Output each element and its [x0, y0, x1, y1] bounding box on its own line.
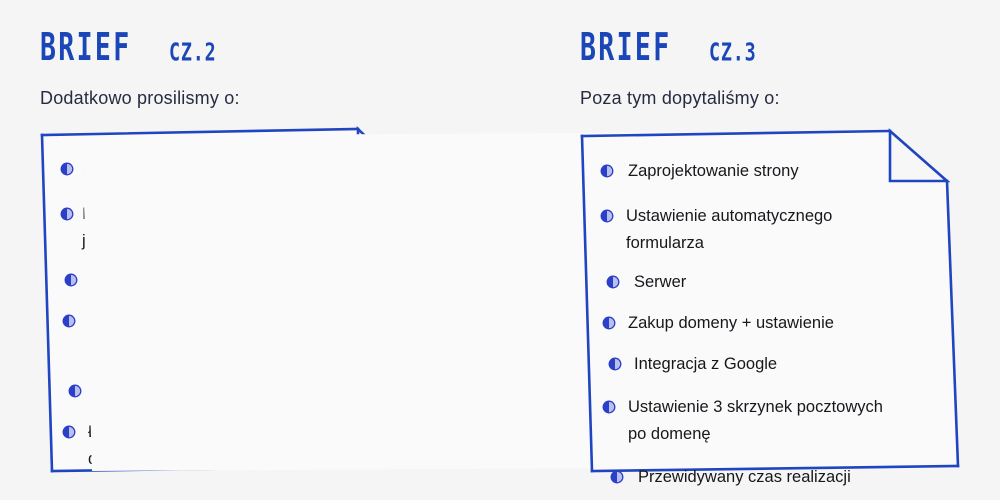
list-item-text: Możliwość optymalizacji SEO	[82, 156, 297, 183]
brief-panel-right: BRIEF CZ.3 Poza tym dopytaliśmy o: Zapro…	[500, 0, 1000, 500]
half-filled-circle-icon	[610, 470, 624, 484]
brief-panel-left: BRIEF CZ.2 Dodatkowo prosilismy o: Możli…	[0, 0, 500, 500]
list-item-text: Serwer	[634, 269, 686, 296]
note-card-right-top-edge	[582, 131, 890, 136]
list-item-text: Integrację z narzędziami Google jak Sear…	[82, 201, 319, 255]
subtitle-right: Poza tym dopytaliśmy o:	[580, 88, 780, 109]
half-filled-circle-icon	[62, 314, 76, 328]
heading-left-brief: BRIEF	[40, 25, 132, 70]
half-filled-circle-icon	[600, 209, 614, 223]
list-item-text: Zakup domeny + ustawienie	[628, 310, 834, 337]
list-item: Zaprojektowanie strony	[600, 158, 945, 185]
slide-canvas: BRIEF CZ.2 Dodatkowo prosilismy o: Możli…	[0, 0, 1000, 500]
list-item-text: Integracja z Google	[634, 351, 777, 378]
half-filled-circle-icon	[68, 384, 82, 398]
list-item: Łatwy mechanizm dodawania zdjęć do portf…	[62, 419, 400, 473]
list-item: Integracja z Google	[608, 351, 945, 378]
heading-left: BRIEF CZ.2	[40, 30, 229, 70]
heading-left-part: CZ.2	[169, 38, 217, 67]
note-card-right-left-edge	[582, 136, 592, 471]
brief-list-right: Zaprojektowanie strony Ustawienie automa…	[600, 158, 945, 491]
list-item: Ustawienie automatycznego formularza	[600, 203, 945, 257]
list-item: Integrację z narzędziami Google jak Sear…	[60, 201, 400, 255]
half-filled-circle-icon	[600, 164, 614, 178]
list-item-text: Zaprojektowanie strony	[628, 158, 799, 185]
note-card-left-right-edge	[412, 181, 419, 466]
list-item: Przewidywany czas realizacji	[610, 464, 945, 491]
half-filled-circle-icon	[606, 275, 620, 289]
half-filled-circle-icon	[60, 162, 74, 176]
list-item-text: Przewidywany czas realizacji	[638, 464, 851, 491]
half-filled-circle-icon	[64, 273, 78, 287]
list-item: Ustawienie 3 skrzynek pocztowych po dome…	[602, 394, 945, 448]
half-filled-circle-icon	[60, 207, 74, 221]
list-item-text: Łatwy mechanizm dodawania zdjęć do portf…	[88, 419, 348, 473]
half-filled-circle-icon	[602, 316, 616, 330]
note-card-left-top-edge	[42, 129, 358, 135]
heading-right: BRIEF CZ.3	[580, 30, 769, 70]
half-filled-circle-icon	[62, 425, 76, 439]
list-item: Możliwość optymalizacji SEO	[60, 156, 400, 183]
list-item: Skrzynkę pod własną domeną	[64, 267, 400, 294]
list-item-text: Blog	[98, 378, 131, 405]
list-item: Serwer	[606, 269, 945, 296]
heading-right-part: CZ.3	[709, 38, 757, 67]
list-item: Możliwość sprzedaży upominków (do 20 poz…	[62, 308, 400, 362]
brief-list-left: Możliwość optymalizacji SEO Integrację z…	[60, 156, 400, 473]
note-card-left-left-edge	[42, 135, 52, 471]
list-item-text: Ustawienie automatycznego formularza	[626, 203, 832, 257]
note-card-right-right-edge	[947, 181, 958, 466]
list-item-text: Ustawienie 3 skrzynek pocztowych po dome…	[628, 394, 883, 448]
list-item-text: Możliwość sprzedaży upominków (do 20 poz…	[88, 308, 332, 362]
half-filled-circle-icon	[608, 357, 622, 371]
subtitle-left: Dodatkowo prosilismy o:	[40, 88, 240, 109]
half-filled-circle-icon	[602, 400, 616, 414]
list-item: Zakup domeny + ustawienie	[602, 310, 945, 337]
list-item-text: Skrzynkę pod własną domeną	[90, 267, 310, 294]
list-item: Blog	[68, 378, 400, 405]
heading-right-brief: BRIEF	[580, 25, 672, 70]
